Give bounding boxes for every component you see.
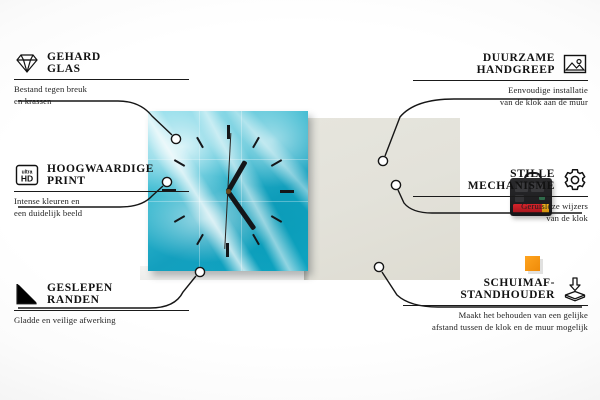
divider <box>413 196 588 197</box>
feature-gehard-glas: GEHARD GLAS Bestand tegen breuk en krass… <box>14 50 189 107</box>
feature-title: STILLE MECHANISME <box>468 168 555 193</box>
feature-description: Eenvoudige installatie van de klok aan d… <box>413 85 588 108</box>
feature-desc-line1: Intense kleuren en <box>14 196 189 208</box>
picture-frame-icon <box>562 51 588 77</box>
feature-stille-mechanisme: STILLE MECHANISME Geruisloze wijzers van… <box>413 167 588 224</box>
divider <box>403 305 588 306</box>
gear-icon <box>562 167 588 193</box>
diamond-icon <box>14 50 40 76</box>
feature-title-line1: HOOGWAARDIGE <box>47 163 154 175</box>
feature-title-line2: MECHANISME <box>468 180 555 192</box>
feature-desc-line1: Geruisloze wijzers <box>413 201 588 213</box>
infographic-canvas: GEHARD GLAS Bestand tegen breuk en krass… <box>0 0 600 400</box>
feature-title-line2: STANDHOUDER <box>460 289 555 301</box>
feature-hoogwaardige-print: ultra HD HOOGWAARDIGE PRINT Intense kleu… <box>14 162 189 219</box>
feature-title: GESLEPEN RANDEN <box>47 282 113 307</box>
press-down-pad-icon <box>562 276 588 302</box>
feature-desc-line1: Eenvoudige installatie <box>413 85 588 97</box>
feature-title: GEHARD GLAS <box>47 51 101 76</box>
divider <box>14 79 189 80</box>
feature-geslepen-randen: GESLEPEN RANDEN Gladde en veilige afwerk… <box>14 281 189 327</box>
divider <box>14 310 189 311</box>
ultra-hd-icon: ultra HD <box>14 162 40 188</box>
feature-title: HOOGWAARDIGE PRINT <box>47 163 154 188</box>
feature-title-line1: STILLE <box>468 168 555 180</box>
feature-title-line2: RANDEN <box>47 294 113 306</box>
feature-title-line2: PRINT <box>47 175 154 187</box>
feature-title-line1: DUURZAME <box>477 52 555 64</box>
svg-text:HD: HD <box>21 174 33 184</box>
feature-description: Geruisloze wijzers van de klok <box>413 201 588 224</box>
feature-schuimaf-standhouder: SCHUIMAF- STANDHOUDER Maakt het behouden… <box>403 276 588 333</box>
feature-desc-line2: een duidelijk beeld <box>14 208 189 220</box>
feature-description: Bestand tegen breuk en krassen <box>14 84 189 107</box>
clock-center-cap <box>226 189 231 194</box>
feature-desc-line2: van de klok <box>413 213 588 225</box>
bevelled-edge-icon <box>14 281 40 307</box>
glass-quadrant <box>148 111 199 159</box>
divider <box>14 191 189 192</box>
feature-title: DUURZAME HANDGREEP <box>477 52 555 77</box>
feature-description: Intense kleuren en een duidelijk beeld <box>14 196 189 219</box>
feature-title-line1: SCHUIMAF- <box>460 277 555 289</box>
feature-title-line1: GESLEPEN <box>47 282 113 294</box>
foam-spacer-pad <box>525 256 540 271</box>
feature-desc-line2: van de klok aan de muur <box>413 97 588 109</box>
feature-desc-line1: Maakt het behouden van een gelijke <box>403 310 588 322</box>
feature-desc-line1: Bestand tegen breuk <box>14 84 189 96</box>
divider <box>413 80 588 81</box>
feature-duurzame-handgreep: DUURZAME HANDGREEP Eenvoudige installati… <box>413 51 588 108</box>
feature-title-line2: HANDGREEP <box>477 64 555 76</box>
feature-desc-line2: en krassen <box>14 96 189 108</box>
feature-desc-line1: Gladde en veilige afwerking <box>14 315 189 327</box>
feature-title-line2: GLAS <box>47 63 101 75</box>
feature-desc-line2: afstand tussen de klok en de muur mogeli… <box>403 322 588 334</box>
feature-description: Maakt het behouden van een gelijke afsta… <box>403 310 588 333</box>
feature-description: Gladde en veilige afwerking <box>14 315 189 327</box>
feature-title: SCHUIMAF- STANDHOUDER <box>460 277 555 302</box>
feature-title-line1: GEHARD <box>47 51 101 63</box>
